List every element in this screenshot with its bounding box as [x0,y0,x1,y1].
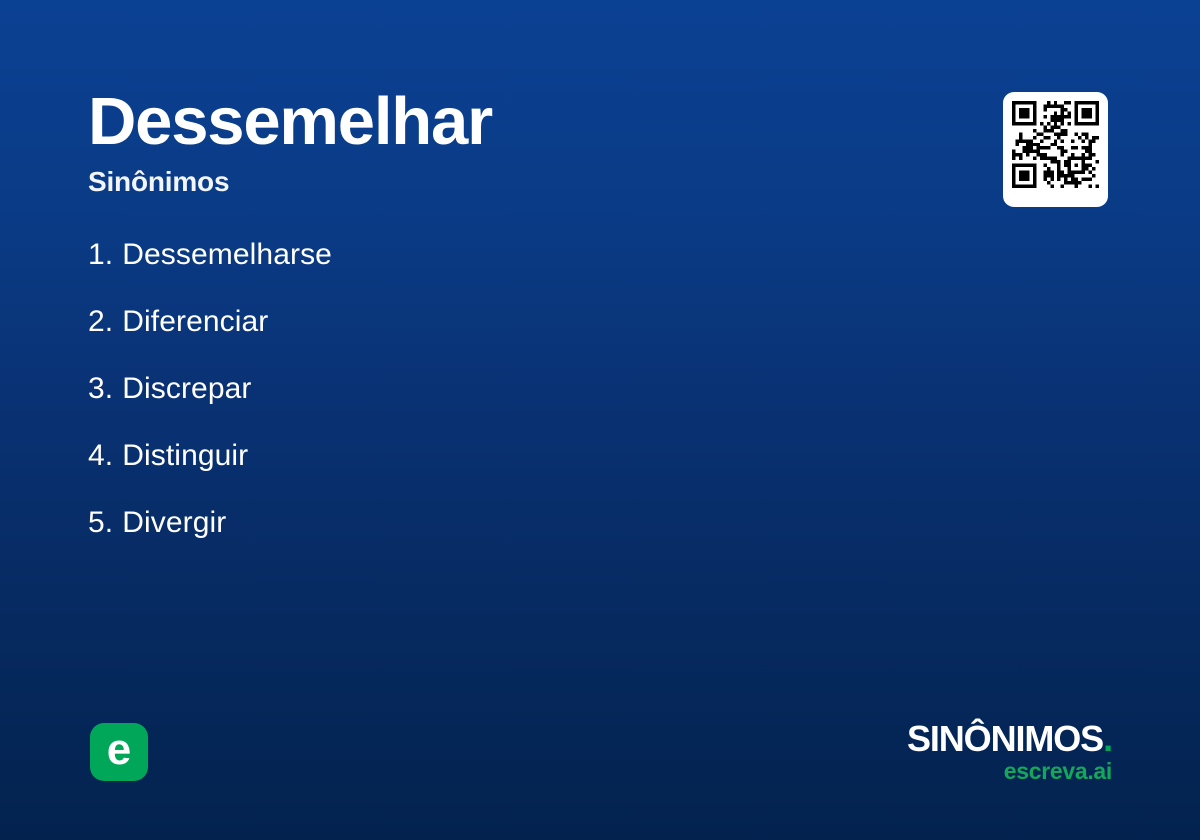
list-item-index: 2. [88,305,113,338]
brand-site: escreva.ai [907,759,1112,783]
list-item-word: Dessemelharse [122,238,332,271]
list-item-word: Distinguir [122,439,248,472]
list-item-index: 1. [88,238,113,271]
brand-dot: . [1103,718,1112,759]
list-item-index: 3. [88,372,113,405]
list-item-index: 4. [88,439,113,472]
brand-name-text: SINÔNIMOS [907,718,1103,759]
list-item-word: Divergir [122,506,226,539]
qr-code-card[interactable] [1003,92,1108,207]
list-item: 2.Diferenciar [88,307,788,374]
list-item-word: Discrepar [122,372,251,405]
list-item-index: 5. [88,506,113,539]
list-item: 1.Dessemelharse [88,240,788,307]
list-item: 5.Divergir [88,508,788,575]
escreva-e-badge-icon: e [90,723,148,781]
synonym-list: 1.Dessemelharse 2.Diferenciar 3.Discrepa… [88,240,788,575]
list-item-word: Diferenciar [122,305,268,338]
page-subtitle: Sinônimos [88,168,229,196]
list-item: 4.Distinguir [88,441,788,508]
brand-lockup: SINÔNIMOS. escreva.ai [907,720,1112,783]
brand-name: SINÔNIMOS. [907,720,1112,758]
page-title: Dessemelhar [88,88,492,155]
list-item: 3.Discrepar [88,374,788,441]
qr-code-icon [1012,101,1099,188]
escreva-e-badge-letter: e [107,728,131,772]
poster-card: Dessemelhar Sinônimos 1.Dessemelharse 2.… [0,0,1200,840]
